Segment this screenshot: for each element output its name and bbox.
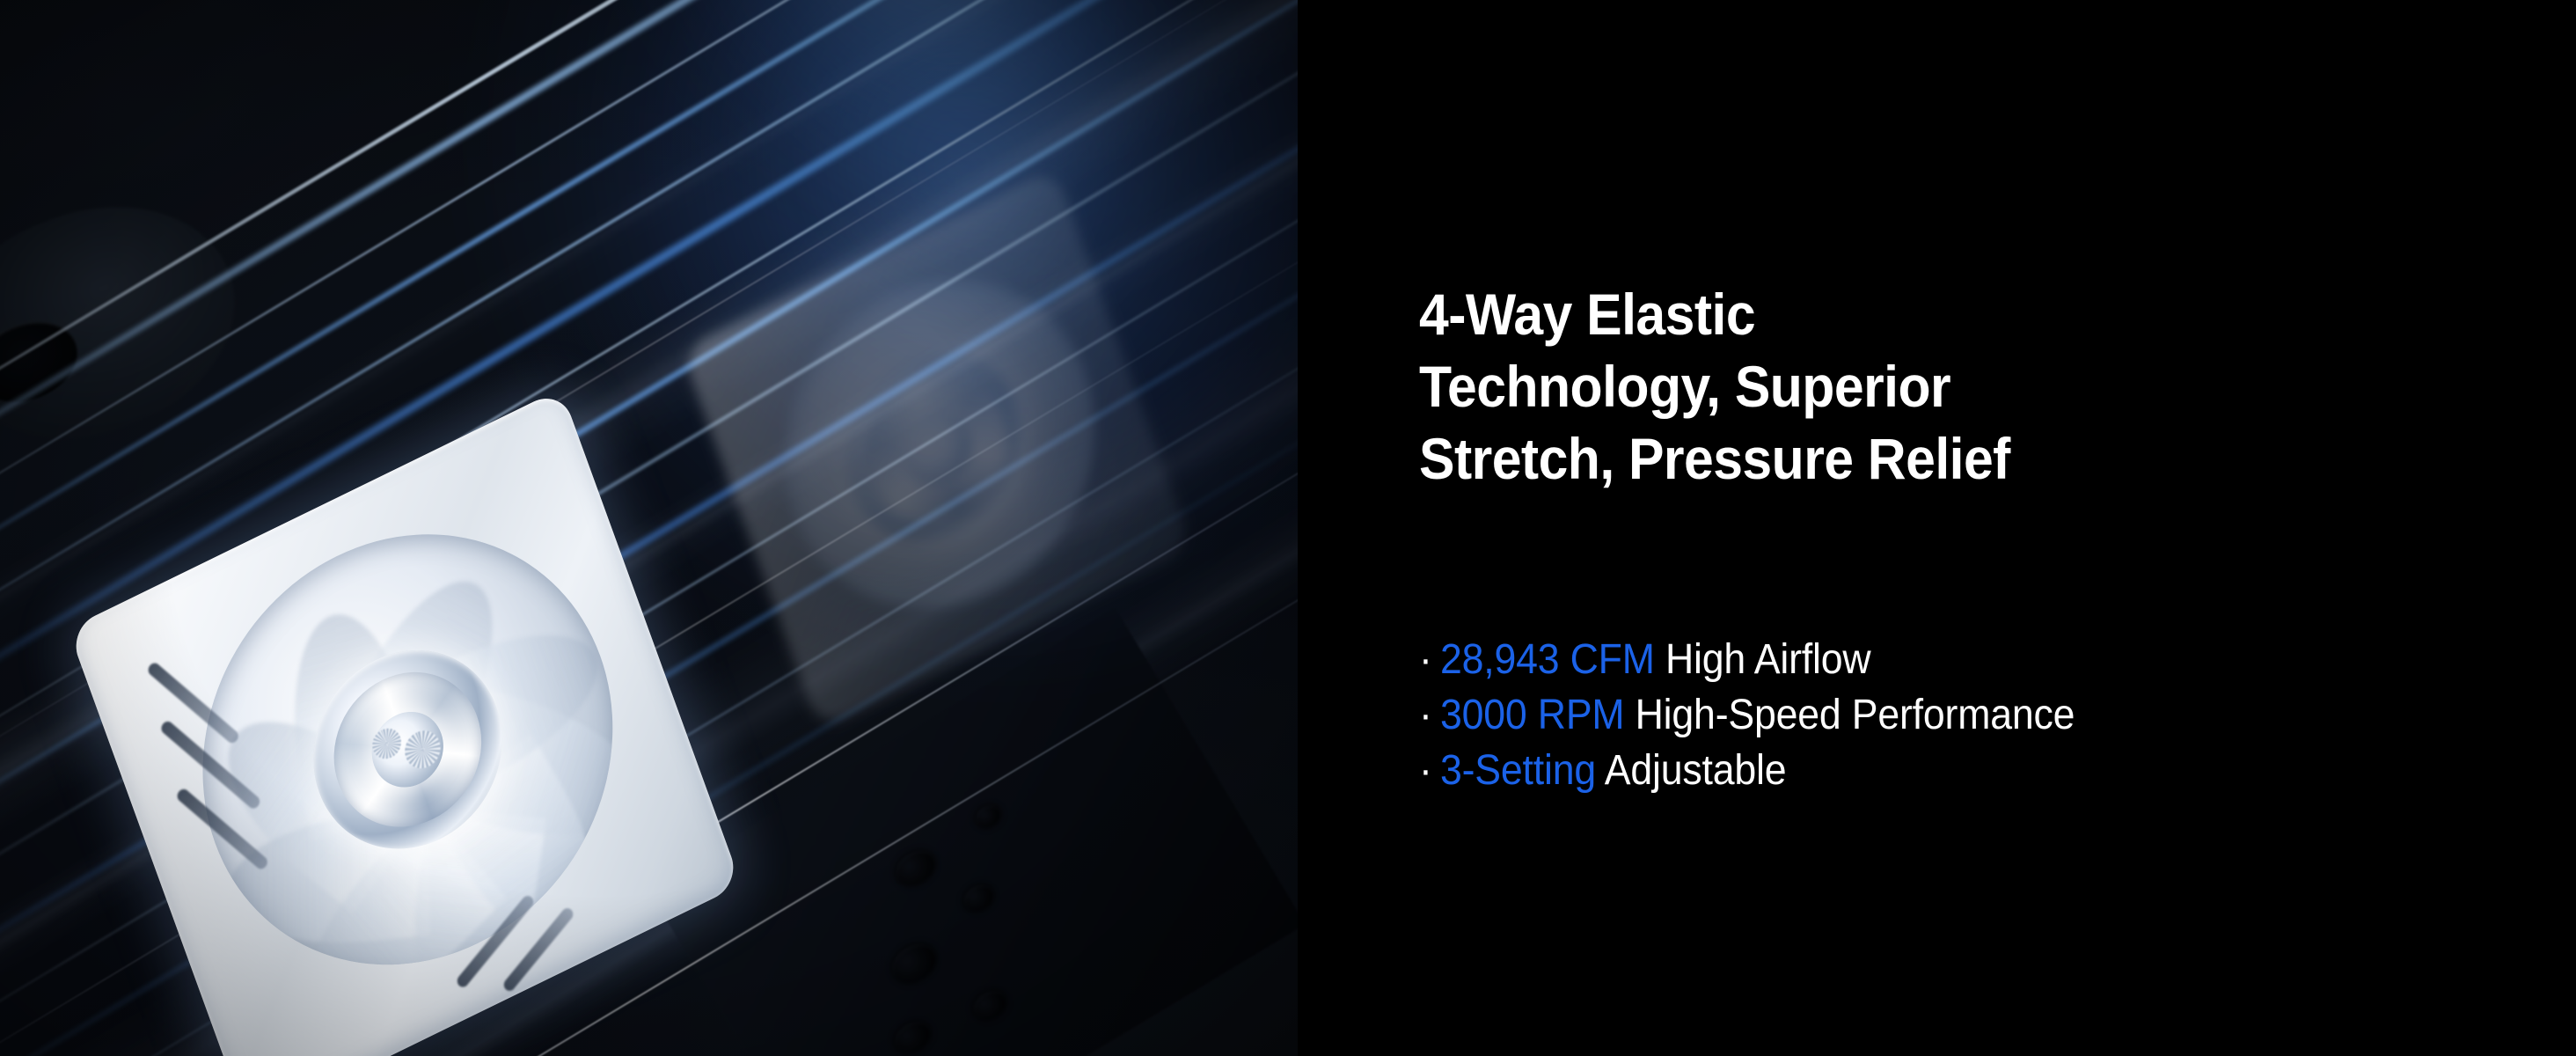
spec-description: High Airflow [1655, 636, 1871, 683]
spec-item: ·28,943 CFM High Airflow [1419, 632, 2237, 687]
page-title: 4-Way Elastic Technology, Superior Stret… [1419, 278, 2059, 495]
promo-banner: 4-Way Elastic Technology, Superior Stret… [0, 0, 2576, 1056]
bullet-icon: · [1419, 747, 1432, 794]
product-image-panel [0, 0, 1298, 1056]
spec-highlight-value: 28,943 CFM [1440, 636, 1655, 683]
bullet-icon: · [1419, 692, 1432, 738]
bullet-icon: · [1419, 636, 1432, 683]
spec-highlight-value: 3-Setting [1440, 747, 1596, 794]
spec-description: High-Speed Performance [1624, 692, 2075, 738]
copy-panel: 4-Way Elastic Technology, Superior Stret… [1298, 0, 2576, 1056]
light-streak [0, 0, 1298, 613]
spec-highlight-value: 3000 RPM [1440, 692, 1624, 738]
spec-description: Adjustable [1596, 747, 1786, 794]
spec-item: ·3000 RPM High-Speed Performance [1419, 687, 2237, 743]
spec-list: ·28,943 CFM High Airflow·3000 RPM High-S… [1419, 632, 2299, 798]
spec-item: ·3-Setting Adjustable [1419, 743, 2237, 798]
light-streak [0, 0, 1298, 509]
